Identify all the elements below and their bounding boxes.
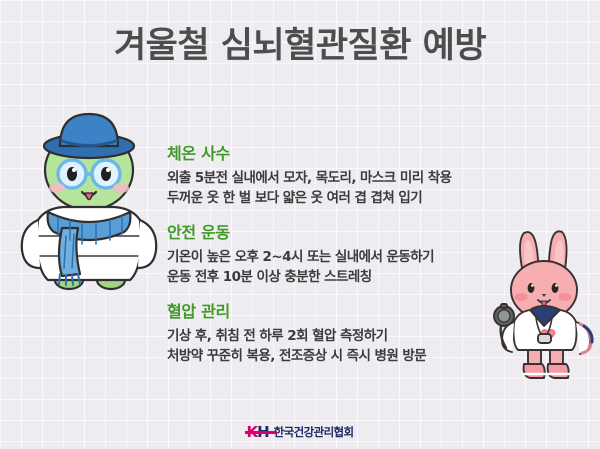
kh-logo: K H — [246, 424, 268, 440]
section-block-exercise: 안전 운동 기온이 높은 오후 2~4시 또는 실내에서 운동하기 운동 전후 … — [167, 222, 512, 287]
section-line: 처방약 꾸준히 복용, 전조증상 시 즉시 병원 방문 — [167, 346, 512, 366]
content-column: 체온 사수 외출 5분전 실내에서 모자, 목도리, 마스크 미리 착용 두꺼운… — [167, 143, 512, 366]
section-heading: 안전 운동 — [167, 222, 512, 244]
section-line: 운동 전후 10분 이상 충분한 스트레칭 — [167, 267, 512, 287]
organization-name: 한국건강관리협회 — [274, 424, 354, 440]
section-block-temperature: 체온 사수 외출 5분전 실내에서 모자, 목도리, 마스크 미리 착용 두꺼운… — [167, 143, 512, 208]
logo-bar — [245, 431, 277, 434]
footer: K H 한국건강관리협회 — [0, 424, 600, 440]
section-line: 기온이 높은 오후 2~4시 또는 실내에서 운동하기 — [167, 247, 512, 267]
section-line: 외출 5분전 실내에서 모자, 목도리, 마스크 미리 착용 — [167, 168, 512, 188]
section-heading: 혈압 관리 — [167, 301, 512, 323]
section-heading: 체온 사수 — [167, 143, 512, 165]
turtle-character-illustration — [14, 108, 164, 298]
rabbit-character-illustration — [492, 228, 600, 390]
poster-canvas: 겨울철 심뇌혈관질환 예방 — [0, 0, 600, 449]
section-block-blood-pressure: 혈압 관리 기상 후, 취침 전 하루 2회 혈압 측정하기 처방약 꾸준히 복… — [167, 301, 512, 366]
page-title: 겨울철 심뇌혈관질환 예방 — [0, 24, 600, 68]
section-line: 기상 후, 취침 전 하루 2회 혈압 측정하기 — [167, 326, 512, 346]
section-line: 두꺼운 옷 한 벌 보다 얇은 옷 여러 겹 겹쳐 입기 — [167, 188, 512, 208]
